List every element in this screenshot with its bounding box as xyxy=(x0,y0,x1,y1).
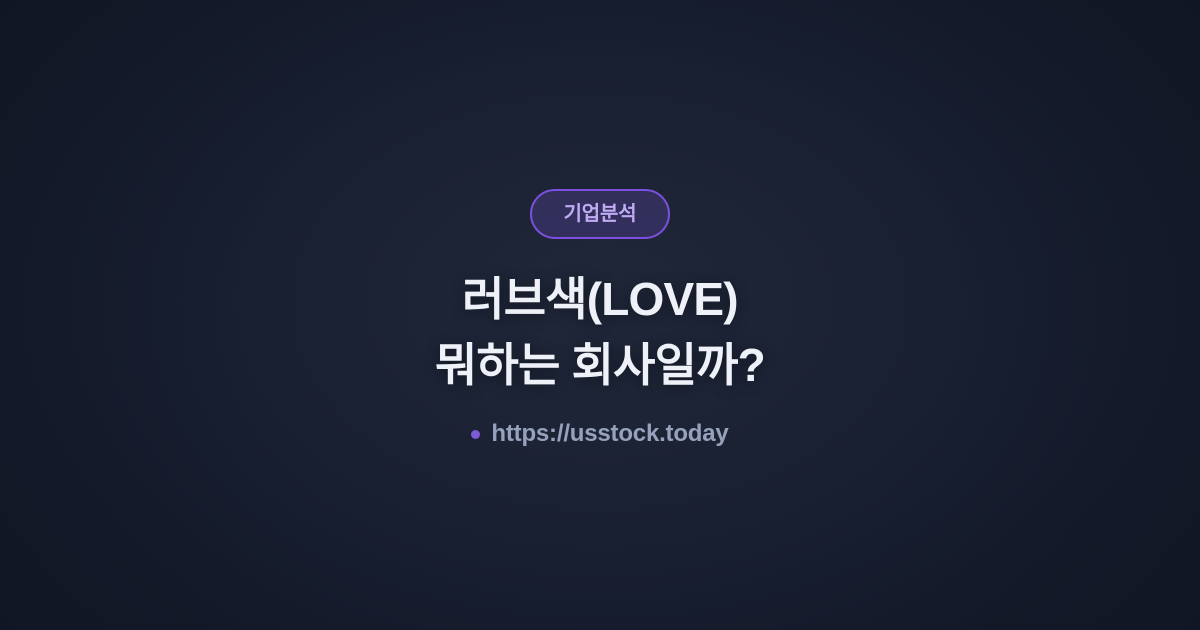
bullet-dot-icon xyxy=(471,430,480,439)
page-title-line-1: 러브색(LOVE) xyxy=(435,266,765,332)
category-badge: 기업분석 xyxy=(530,189,670,239)
category-badge-label: 기업분석 xyxy=(564,204,637,224)
page-title-line-2: 뭐하는 회사일까? xyxy=(435,332,765,398)
page-title: 러브색(LOVE) 뭐하는 회사일까? xyxy=(435,266,765,398)
site-url-label: https://usstock.today xyxy=(491,422,728,446)
card-content: 기업분석 러브색(LOVE) 뭐하는 회사일까? https://usstock… xyxy=(0,0,1200,630)
og-share-card: 기업분석 러브색(LOVE) 뭐하는 회사일까? https://usstock… xyxy=(0,0,1200,630)
site-url: https://usstock.today xyxy=(471,422,728,446)
